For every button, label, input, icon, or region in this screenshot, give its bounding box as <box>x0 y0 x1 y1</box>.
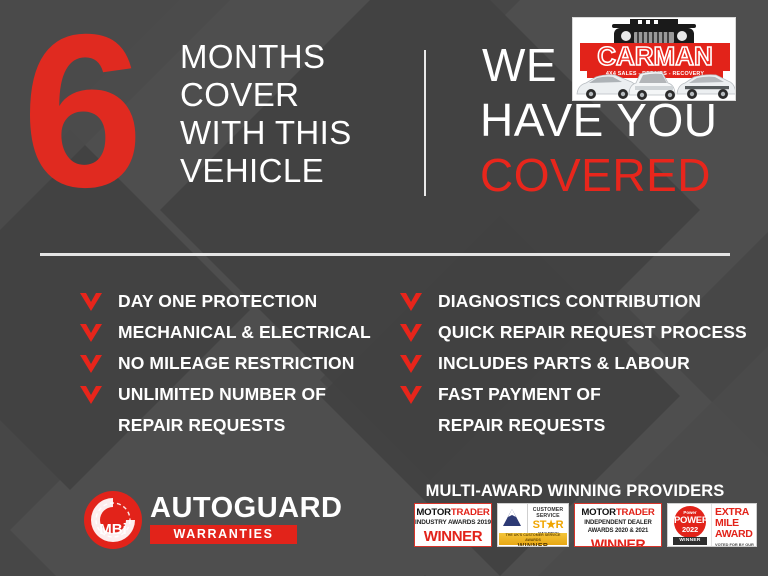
badge-brand-red: TRADER <box>451 507 490 518</box>
check-icon <box>398 322 424 344</box>
badge-brand-black: MOTOR <box>581 507 616 518</box>
badge-result: WINNER <box>575 536 661 547</box>
horizontal-divider <box>40 253 730 256</box>
tagline-line-3: COVERED <box>480 148 742 203</box>
feature-label: UNLIMITED NUMBER OF <box>118 381 326 408</box>
check-icon <box>398 384 424 406</box>
power-result: WINNER <box>673 537 707 545</box>
badge-title-line-3: AWARD <box>715 529 756 540</box>
vertical-divider <box>424 50 426 196</box>
badge-brand-red: TRADER <box>616 507 655 518</box>
headline-line-1: MONTHS <box>180 38 352 76</box>
badge-result: WINNER <box>499 543 567 547</box>
feature-label: QUICK REPAIR REQUEST PROCESS <box>438 319 747 346</box>
check-icon <box>78 384 104 406</box>
badge-result: WINNER <box>415 528 491 545</box>
check-icon <box>78 322 104 344</box>
feature-label: DIAGNOSTICS CONTRIBUTION <box>438 288 701 315</box>
provider-logo: MBi AUTOGUARD WARRANTIES <box>82 489 297 551</box>
check-icon <box>398 291 424 313</box>
feature-label: REPAIR REQUESTS <box>118 412 285 439</box>
tagline-line-2: HAVE YOU <box>480 93 742 148</box>
check-icon <box>398 353 424 375</box>
vehicles-image <box>573 66 736 100</box>
feature-label: MECHANICAL & ELECTRICAL <box>118 319 371 346</box>
check-icon <box>78 291 104 313</box>
promo-banner: 6 MONTHS COVER WITH THIS VEHICLE WE HAVE… <box>0 0 768 576</box>
badge-brand: MOTORTRADER <box>575 507 661 519</box>
mountain-logo-icon <box>498 504 526 532</box>
badge-subtitle: VOTED FOR BY OUR DEALER PARTNERS <box>715 542 756 547</box>
awards-title: MULTI-AWARD WINNING PROVIDERS <box>414 482 736 501</box>
award-badge-extra-mile: Power POWER 2022 WINNER EXTRA MILE AWARD… <box>667 503 757 547</box>
feature-label: NO MILEAGE RESTRICTION <box>118 350 355 377</box>
headline-line-3: WITH THIS <box>180 114 352 152</box>
award-badge-motortrader-2019: MOTORTRADER INDUSTRY AWARDS 2019 WINNER <box>414 503 492 547</box>
headline-line-4: VEHICLE <box>180 152 352 190</box>
headline-line-2: COVER <box>180 76 352 114</box>
badge-award-line-2: AWARDS 2020 & 2021 <box>575 527 661 535</box>
cover-months-number: 6 <box>22 12 137 212</box>
awards-section: MULTI-AWARD WINNING PROVIDERS MOTORTRADE… <box>414 482 736 550</box>
award-badge-customer-service-star: THE INSTITUTE CUSTOMER SERVICE ST★R AWAR… <box>497 503 569 547</box>
badge-power-mark: Power POWER 2022 WINNER <box>668 504 712 546</box>
badge-brand-black: MOTOR <box>416 507 451 518</box>
header-section: 6 MONTHS COVER WITH THIS VEHICLE WE HAVE… <box>0 0 768 240</box>
feature-label: REPAIR REQUESTS <box>438 412 605 439</box>
badge-ribbon-small: THE UK'S CUSTOMER SERVICE AWARDS <box>499 533 567 543</box>
power-circle-icon: Power POWER 2022 <box>674 506 706 538</box>
award-badge-motortrader-2020-2021: MOTORTRADER INDEPENDENT DEALER AWARDS 20… <box>574 503 662 547</box>
provider-name: AUTOGUARD <box>150 493 342 523</box>
feature-label: DAY ONE PROTECTION <box>118 288 317 315</box>
power-year: 2022 <box>674 526 706 534</box>
awards-badge-row: MOTORTRADER INDUSTRY AWARDS 2019 WINNER … <box>414 503 757 547</box>
badge-winner-ribbon: THE UK'S CUSTOMER SERVICE AWARDS WINNER <box>499 533 567 545</box>
headline-text: MONTHS COVER WITH THIS VEHICLE <box>180 38 352 190</box>
feature-label: FAST PAYMENT OF <box>438 381 601 408</box>
provider-subtitle: WARRANTIES <box>150 525 297 544</box>
features-section: DAY ONE PROTECTION MECHANICAL & ELECTRIC… <box>0 288 768 453</box>
badge-award-line-1: INDEPENDENT DEALER <box>575 519 661 527</box>
dealer-logo: CARMAN 4X4 SALES - REPAIRS - RECOVERY <box>572 17 736 101</box>
badge-text-block: EXTRA MILE AWARD VOTED FOR BY OUR DEALER… <box>712 504 756 546</box>
svg-text:MBi: MBi <box>99 521 127 538</box>
badge-line-3: ST★R <box>528 519 568 531</box>
feature-label: INCLUDES PARTS & LABOUR <box>438 350 690 377</box>
badge-brand: MOTORTRADER <box>415 507 491 519</box>
badge-award-line: INDUSTRY AWARDS 2019 <box>415 519 491 527</box>
mbi-logo-icon: MBi <box>82 489 144 551</box>
check-icon <box>78 353 104 375</box>
